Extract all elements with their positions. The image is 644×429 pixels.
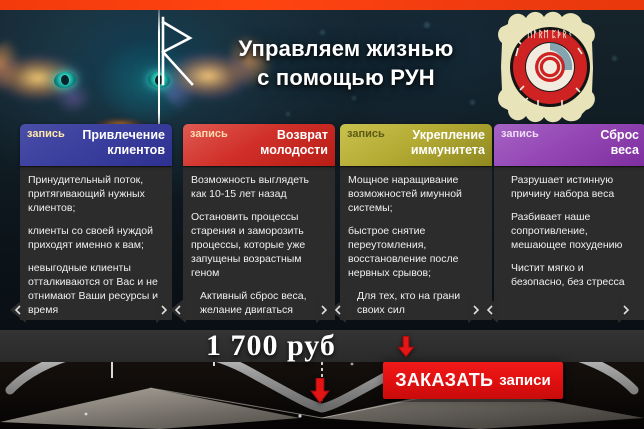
card-kicker: запись [501,128,539,141]
card-title-line1: Сброс [600,128,639,142]
chevron-left-icon [13,305,23,315]
card-paragraph: Разрушает истинную причину набора веса [502,174,638,202]
runic-circle-emblem: ᛗᚨᚱᛖ ᛈᚦᚱᚲ [494,8,606,126]
card-paragraph: Возможность выглядеть как 10-15 лет наза… [191,174,327,202]
card-title-line2: иммунитета [411,143,485,157]
card-kicker: запись [347,128,385,141]
offer-card[interactable]: запись Укрепление иммунитета Мощное нара… [340,124,492,320]
card-title: Привлечение клиентов [82,128,165,158]
page-title-line1: Управляем жизнью [238,36,453,61]
chevron-right-icon [159,305,169,315]
card-body: Разрушает истинную причину набора веса Р… [494,166,644,320]
card-paragraph: невыгодные клиенты отталкиваются от Вас … [28,262,164,318]
card-title-line1: Возврат [277,128,328,142]
card-title-line1: Привлечение [82,128,165,142]
chevron-left-icon [173,305,183,315]
chevron-right-icon [319,305,329,315]
card-title-line2: клиентов [107,143,165,157]
chevron-left-icon [485,305,495,315]
card-title-line1: Укрепление [412,128,485,142]
card-kicker: запись [27,128,65,141]
chevron-right-icon [621,305,631,315]
card-paragraph: Принудительный поток, притягивающий нужн… [28,174,164,216]
card-title: Возврат молодости [260,128,328,158]
svg-text:ᛗᚨᚱᛖ ᛈᚦᚱᚲ: ᛗᚨᚱᛖ ᛈᚦᚱᚲ [527,29,573,39]
card-paragraph: Чистит мягко и безопасно, без стресса [502,262,638,290]
offer-card[interactable]: запись Сброс веса Разрушает истинную при… [494,124,644,320]
order-button[interactable]: ЗАКАЗАТЬ записи [383,362,563,399]
order-button-label-rest: записи [499,372,550,389]
card-kicker: запись [190,128,228,141]
card-paragraph: Для тех, кто на грани своих сил [348,290,484,318]
arrow-down-icon [310,378,330,404]
card-paragraph: Активный сброс веса, желание двигаться [191,290,327,318]
card-paragraph: клиенты со своей нуждой приходят именно … [28,225,164,253]
page-title-line2: с помощью РУН [212,63,480,92]
card-body: Мощное наращивание возможностей имунной … [340,166,492,320]
card-paragraph: Разбивает наше сопротивление, мешающее п… [502,211,638,253]
card-header: запись Возврат молодости [183,124,335,166]
chevron-right-icon [471,305,481,315]
page-root: ᛗᚨᚱᛖ ᛈᚦᚱᚲ Управляем жизнью с помощью РУН [0,0,644,429]
card-title: Укрепление иммунитета [411,128,485,158]
card-header: запись Укрепление иммунитета [340,124,492,166]
card-body: Возможность выглядеть как 10-15 лет наза… [183,166,335,320]
price-label: 1 700 руб [206,329,336,363]
offer-card[interactable]: запись Привлечение клиентов Принудительн… [20,124,172,320]
order-button-label-strong: ЗАКАЗАТЬ [395,370,493,391]
card-header: запись Сброс веса [494,124,644,166]
card-paragraph: Остановить процессы старения и заморозит… [191,211,327,281]
top-accent-strip [0,0,644,10]
page-title: Управляем жизнью с помощью РУН [212,34,480,92]
card-title: Сброс веса [600,128,639,158]
card-body: Принудительный поток, притягивающий нужн… [20,166,172,320]
card-paragraph: Мощное наращивание возможностей имунной … [348,174,484,216]
card-header: запись Привлечение клиентов [20,124,172,166]
card-title-line2: молодости [260,143,328,157]
offer-card[interactable]: запись Возврат молодости Возможность выг… [183,124,335,320]
rune-symbol [160,14,204,88]
chevron-left-icon [333,305,343,315]
arrow-down-icon [397,336,415,358]
card-paragraph: быстрое снятие переутомления, восстановл… [348,225,484,281]
card-title-line2: веса [611,143,639,157]
